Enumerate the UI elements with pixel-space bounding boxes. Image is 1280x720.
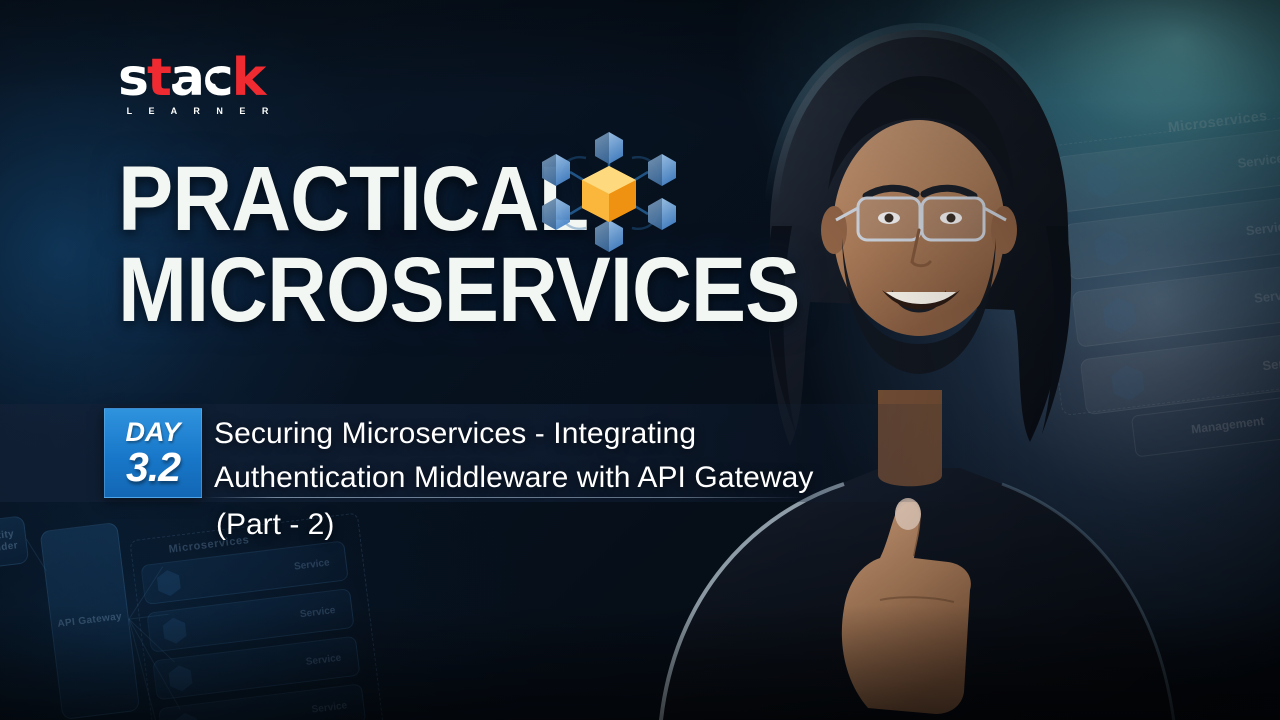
- subtitle-part-label: (Part - 2): [216, 508, 334, 542]
- brand-logo[interactable]: stack L E A R N E R: [118, 52, 278, 130]
- subtitle-line-1: Securing Microservices - Integrating: [214, 412, 1044, 456]
- diagram-service-label: Service: [293, 557, 330, 572]
- day-badge-number: 3.2: [126, 447, 180, 488]
- microservices-hex-network-icon: [524, 128, 694, 256]
- background-diagram-left: Identity Provider API Gateway Microservi…: [0, 470, 404, 720]
- video-thumbnail: Identity Provider API Gateway Microservi…: [0, 0, 1280, 720]
- day-badge-label: DAY: [125, 419, 180, 446]
- diagram-service-label: Service: [305, 652, 342, 667]
- subtitle-divider: [204, 497, 804, 498]
- diagram-service-label: Service: [299, 604, 336, 619]
- subtitle-line-2: Authentication Middleware with API Gatew…: [214, 456, 1044, 500]
- diagram-service-label: Service: [1253, 285, 1280, 306]
- diagram-service-label: Service: [1262, 352, 1280, 373]
- hexagon-icon: [172, 711, 201, 720]
- diagram-service-label: Service: [1237, 150, 1280, 171]
- hexagon-icon: [160, 616, 189, 645]
- center-cube: [582, 166, 636, 222]
- diagram-service-label: Service: [311, 700, 348, 715]
- logo-letter-t: t: [147, 52, 170, 104]
- brand-logo-wordmark: stack: [118, 52, 278, 108]
- title-line-microservices: MICROSERVICES: [118, 249, 712, 332]
- logo-dot-c: [210, 73, 221, 84]
- logo-letter-k: k: [232, 52, 265, 104]
- presenter-portrait: [630, 0, 1190, 720]
- day-badge: DAY 3.2: [104, 408, 202, 498]
- diagram-service-label: Service: [1245, 217, 1280, 238]
- hexagon-icon: [154, 569, 183, 598]
- hexagon-icon: [166, 664, 195, 693]
- logo-dot-a: [168, 73, 179, 84]
- logo-letter-s: s: [118, 52, 147, 104]
- subtitle-text: Securing Microservices - Integrating Aut…: [214, 412, 1044, 500]
